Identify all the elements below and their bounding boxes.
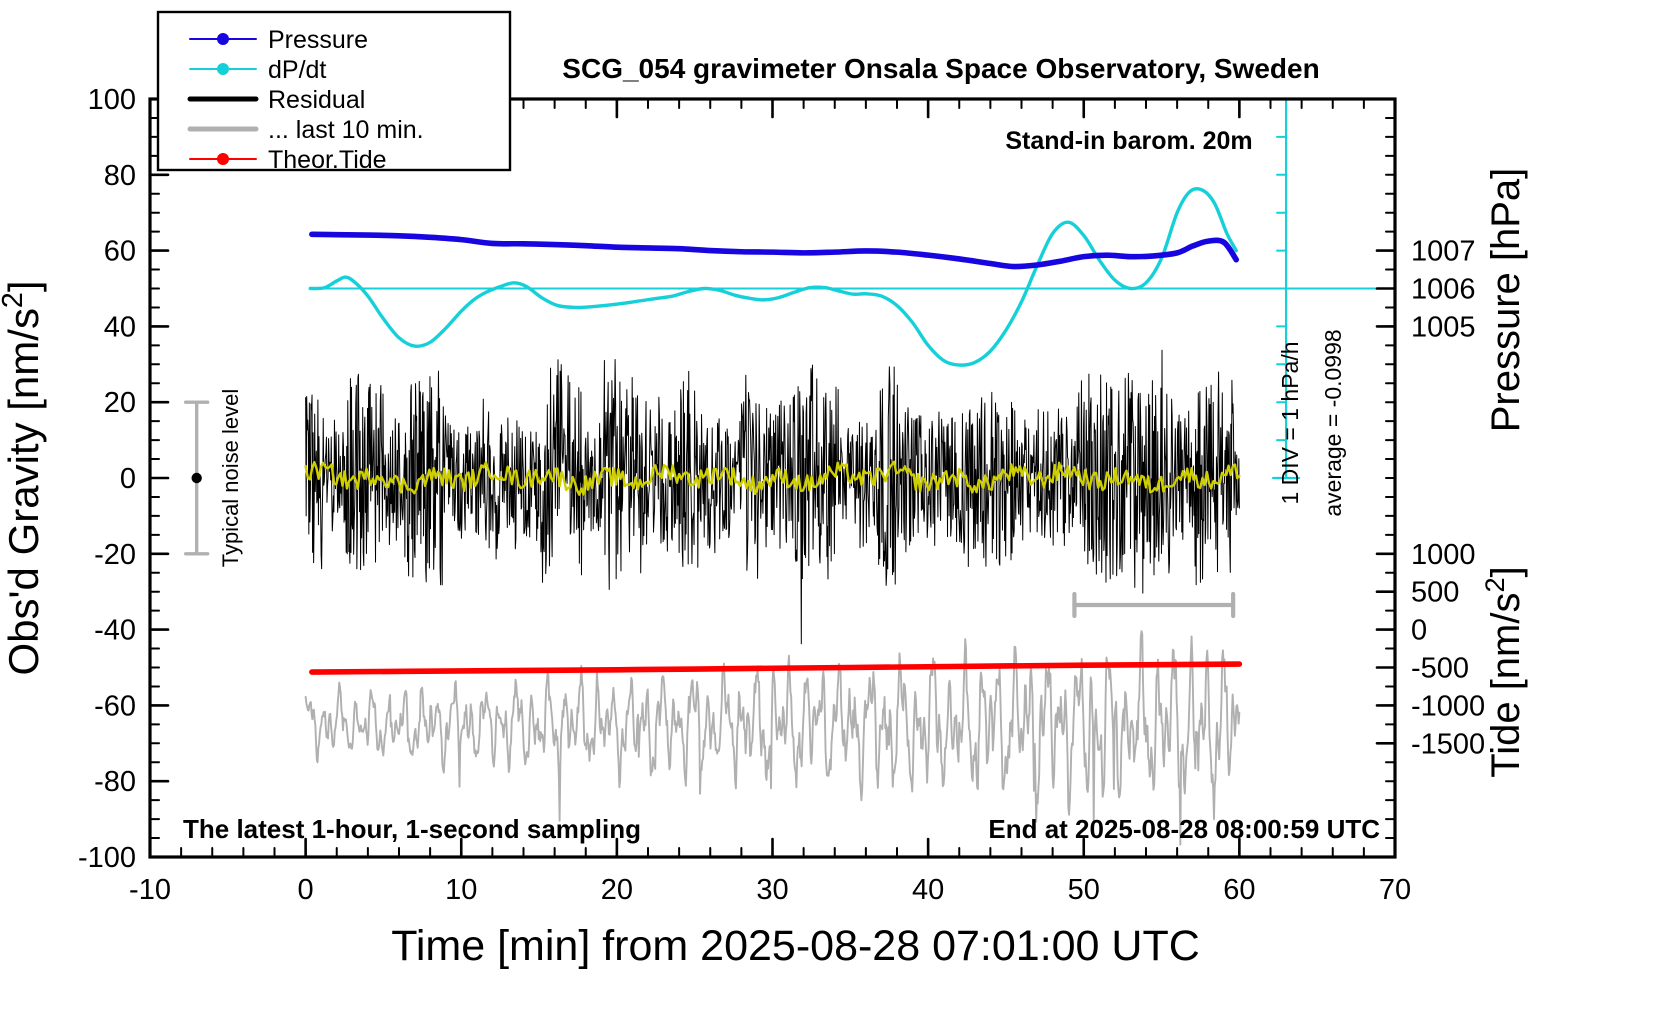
legend-marker-1 [217, 33, 229, 45]
right-tide-tick-label: -1500 [1411, 728, 1485, 760]
legend-label-3: Residual [268, 86, 365, 114]
annotation-noise-level: Typical noise level [218, 389, 243, 568]
x-tick-label: 70 [1379, 874, 1411, 906]
legend-label-2: dP/dt [268, 56, 326, 84]
annotation-average-note: average = -0.0998 [1320, 329, 1346, 516]
y-axis-title: Obs'd Gravity [nm/s2] [0, 280, 47, 675]
right-tide-tick-label: 0 [1411, 615, 1427, 647]
annotation-sampling: The latest 1-hour, 1-second sampling [183, 814, 641, 844]
annotation-end-time: End at 2025-08-28 08:00:59 UTC [988, 814, 1380, 844]
legend-label-4: ... last 10 min. [268, 116, 424, 144]
right-axis-title-tide: Tide [nm/s2] [1479, 566, 1529, 777]
x-tick-label: 0 [298, 874, 314, 906]
chart-root: -10010203040506070-100-80-60-40-20020406… [0, 0, 1660, 1020]
right-tide-tick-label: -1000 [1411, 690, 1485, 722]
noise-level-center-dot [191, 473, 201, 483]
right-pressure-tick-label: 1006 [1411, 274, 1476, 306]
x-tick-label: 30 [756, 874, 788, 906]
right-tide-tick-label: 1000 [1411, 539, 1476, 571]
gravimeter-plot: -10010203040506070-100-80-60-40-20020406… [0, 0, 1660, 1020]
legend-marker-5 [217, 153, 229, 165]
y-tick-label: -40 [94, 615, 136, 647]
annotation-div-note: 1 DIV = 1 hPa/h [1277, 341, 1303, 504]
y-tick-label: 80 [104, 160, 136, 192]
legend-label-1: Pressure [268, 26, 368, 54]
y-tick-label: 40 [104, 311, 136, 343]
y-tick-label: -20 [94, 539, 136, 571]
right-tide-tick-label: -500 [1411, 653, 1469, 685]
x-tick-label: 50 [1068, 874, 1100, 906]
legend-marker-2 [217, 63, 229, 75]
plot-title: SCG_054 gravimeter Onsala Space Observat… [562, 53, 1319, 84]
y-tick-label: -80 [94, 766, 136, 798]
y-tick-label: -60 [94, 690, 136, 722]
y-tick-label: 0 [120, 463, 136, 495]
annotation-standin-barom: Stand-in barom. 20m [1005, 127, 1252, 155]
right-tide-tick-label: 500 [1411, 577, 1459, 609]
y-tick-label: 20 [104, 387, 136, 419]
y-tick-label: 60 [104, 236, 136, 268]
x-tick-label: 40 [912, 874, 944, 906]
right-axis-title-pressure: Pressure [hPa] [1484, 168, 1528, 433]
x-tick-label: 10 [445, 874, 477, 906]
x-axis-title: Time [min] from 2025-08-28 07:01:00 UTC [391, 922, 1200, 970]
right-pressure-tick-label: 1005 [1411, 311, 1476, 343]
legend-label-5: Theor.Tide [268, 146, 387, 174]
x-tick-label: 60 [1223, 874, 1255, 906]
y-tick-label: 100 [88, 84, 136, 116]
x-tick-label: 20 [601, 874, 633, 906]
right-pressure-tick-label: 1007 [1411, 236, 1476, 268]
x-tick-label: -10 [129, 874, 171, 906]
y-tick-label: -100 [78, 842, 136, 874]
